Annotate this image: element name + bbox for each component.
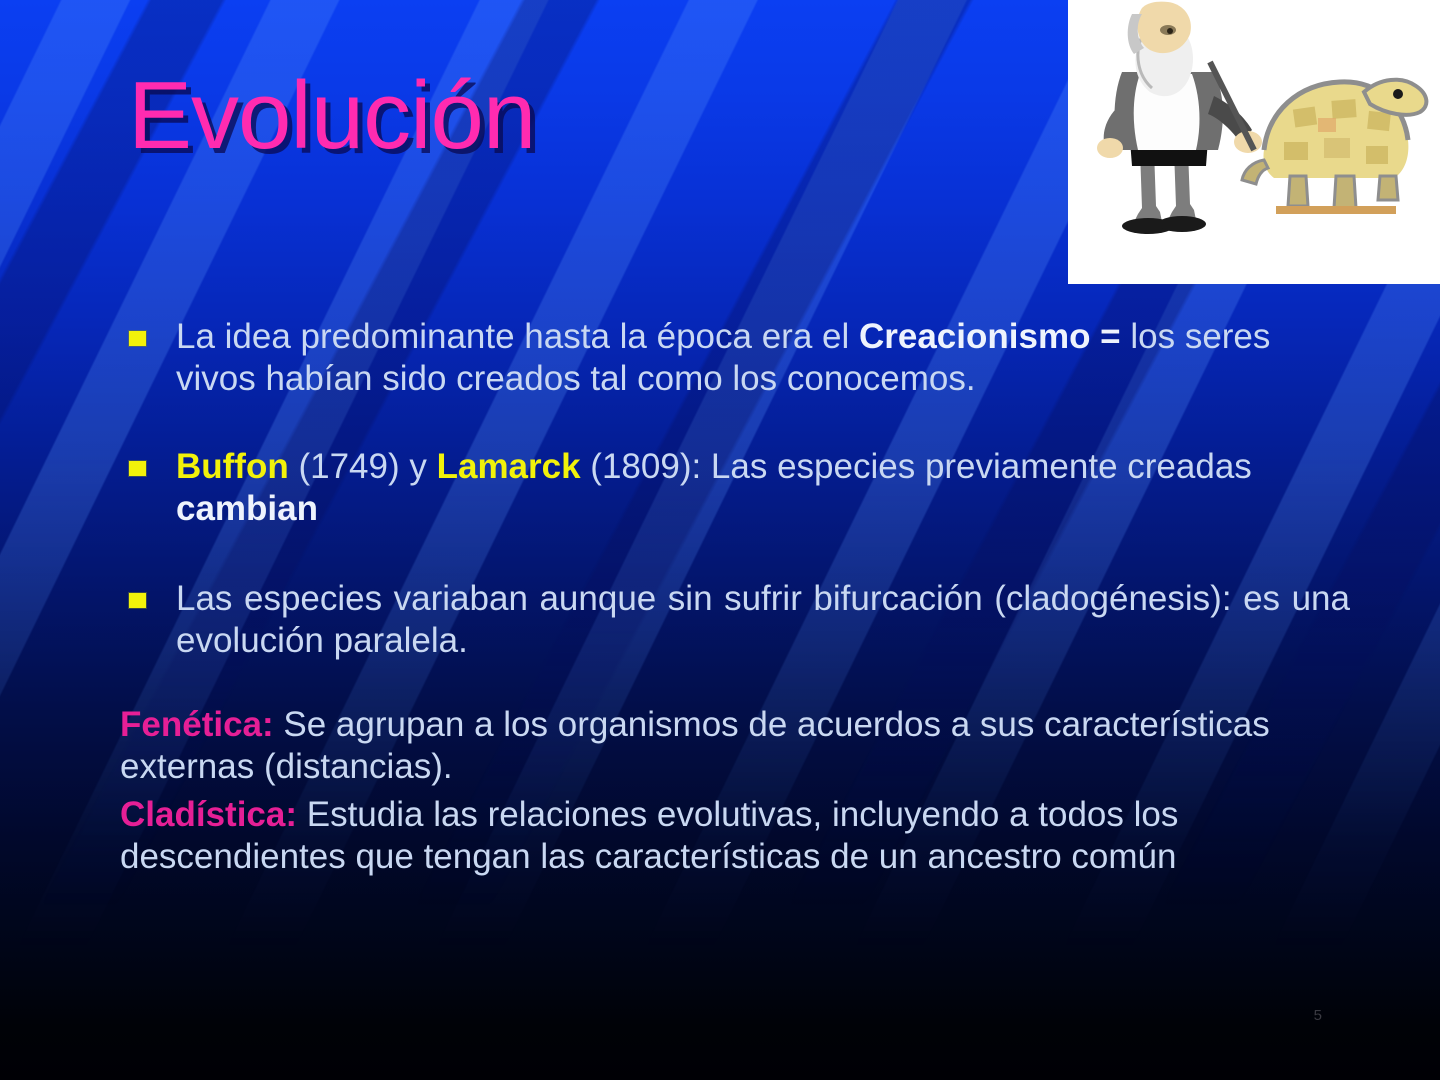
presentation-slide: Evolución bbox=[0, 0, 1440, 1080]
bullet-square-icon bbox=[129, 461, 146, 476]
slide-body: La idea predominante hasta la época era … bbox=[120, 316, 1350, 878]
bullet-square-icon bbox=[129, 593, 146, 608]
bullet-item-3: Las especies variaban aunque sin sufrir … bbox=[120, 578, 1350, 662]
bullet-item-1: La idea predominante hasta la época era … bbox=[120, 316, 1350, 400]
bullet-2-part-5: cambian bbox=[176, 489, 318, 528]
bullet-2-part-2: (1749) y bbox=[289, 447, 437, 486]
bullet-2-part-3: Lamarck bbox=[437, 447, 581, 486]
definition-cladistica: Cladística: Estudia las relaciones evolu… bbox=[120, 794, 1350, 878]
darwin-cartoon-icon bbox=[1068, 0, 1440, 284]
bullet-square-icon bbox=[129, 331, 146, 346]
fenetica-description: Se agrupan a los organismos de acuerdos … bbox=[120, 705, 1270, 786]
bullet-1-part-1: La idea predominante hasta la época era … bbox=[176, 317, 859, 356]
darwin-cartoon-image bbox=[1068, 0, 1440, 284]
fenetica-label: Fenética: bbox=[120, 705, 274, 744]
bullet-item-2: Buffon (1749) y Lamarck (1809): Las espe… bbox=[120, 446, 1350, 530]
bullet-2-part-1: Buffon bbox=[176, 447, 289, 486]
definition-fenetica: Fenética: Se agrupan a los organismos de… bbox=[120, 704, 1350, 788]
page-number: 5 bbox=[1314, 1007, 1322, 1024]
cladistica-label: Cladística: bbox=[120, 795, 297, 834]
bullet-2-part-4: (1809): Las especies previamente creadas bbox=[581, 447, 1252, 486]
bullet-1-part-2: Creacionismo = bbox=[859, 317, 1121, 356]
slide-title: Evolución bbox=[128, 66, 535, 167]
bullet-3-part-1: Las especies variaban aunque sin sufrir … bbox=[176, 579, 1350, 660]
